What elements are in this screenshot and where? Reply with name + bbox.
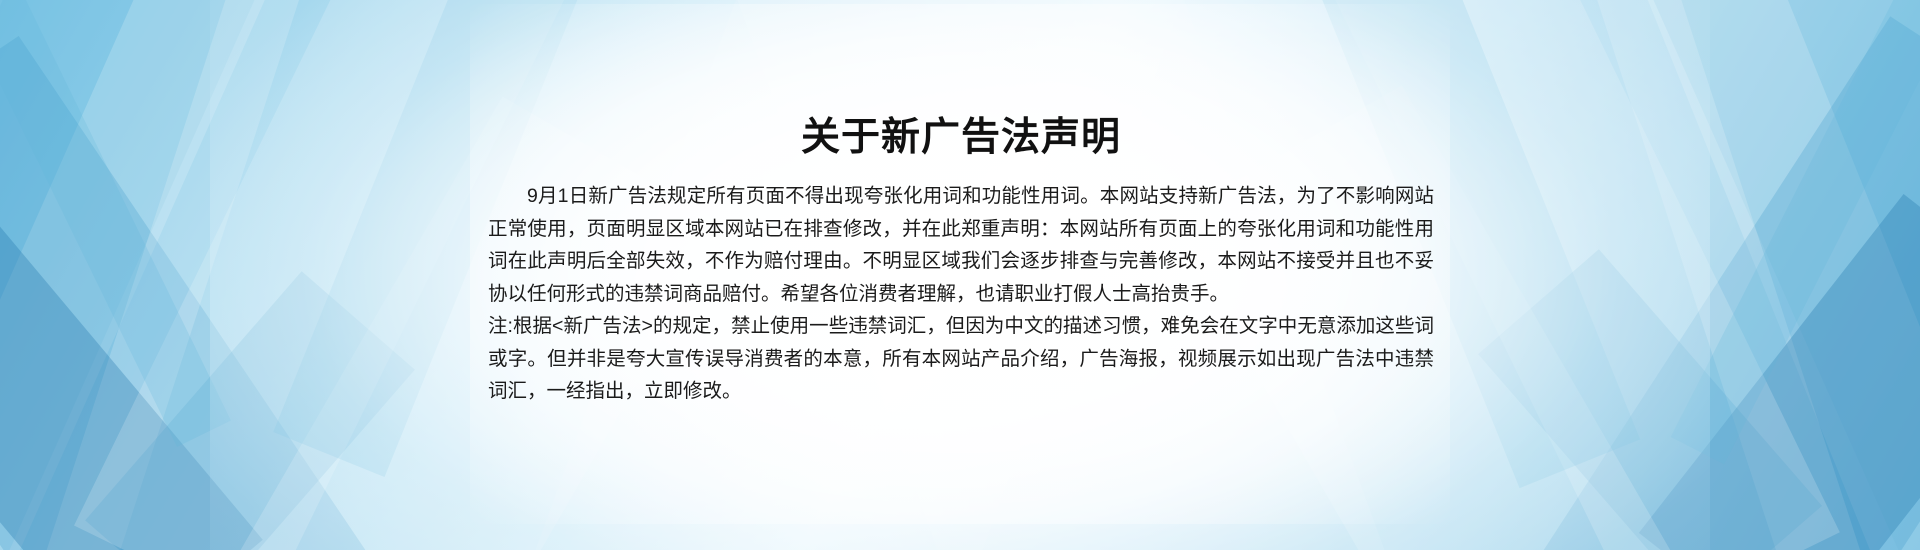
statement-banner: 关于新广告法声明 9月1日新广告法规定所有页面不得出现夸张化用词和功能性用词。本…: [0, 0, 1920, 550]
statement-body: 9月1日新广告法规定所有页面不得出现夸张化用词和功能性用词。本网站支持新广告法，…: [488, 180, 1434, 408]
statement-note-paragraph: 注:根据<新广告法>的规定，禁止使用一些违禁词汇，但因为中文的描述习惯，难免会在…: [488, 310, 1434, 408]
statement-content: 关于新广告法声明 9月1日新广告法规定所有页面不得出现夸张化用词和功能性用词。本…: [488, 0, 1434, 550]
statement-paragraph: 9月1日新广告法规定所有页面不得出现夸张化用词和功能性用词。本网站支持新广告法，…: [488, 180, 1434, 310]
page-title: 关于新广告法声明: [488, 114, 1434, 162]
